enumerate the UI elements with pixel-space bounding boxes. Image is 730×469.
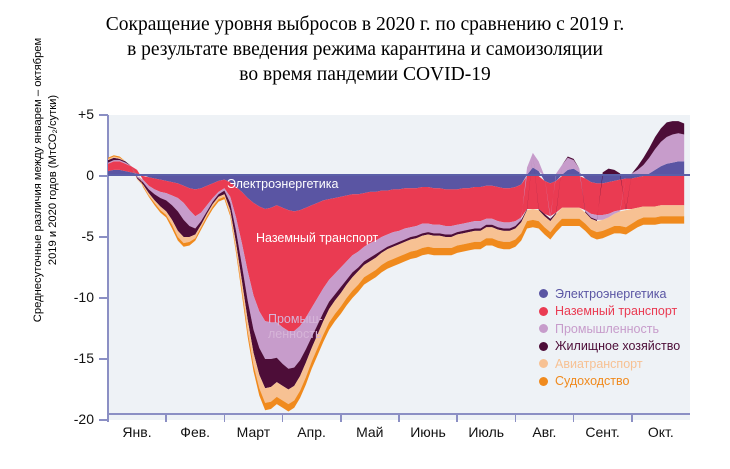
legend-color-swatch-icon [539,324,548,333]
x-tick-label: Фев. [180,424,210,440]
legend-item[interactable]: Электроэнергетика [539,285,680,303]
legend-color-swatch-icon [539,342,548,351]
legend-color-swatch-icon [539,377,548,386]
legend-item-label: Электроэнергетика [555,287,666,301]
x-tick-label: Окт. [648,424,674,440]
x-tick-label: Апр. [297,424,326,440]
y-tick-mark [99,114,108,116]
zero-reference-line [108,174,690,176]
legend-color-swatch-icon [539,289,548,298]
legend-item-label: Авиатранспорт [555,357,643,371]
legend-item[interactable]: Наземный транспорт [539,303,680,321]
legend-item[interactable]: Судоходство [539,373,680,391]
y-tick-mark [99,175,108,177]
x-tick-label: Июнь [410,424,446,440]
chart-page: Сокращение уровня выбросов в 2020 г. по … [0,0,730,469]
y-tick-label: -10 [50,289,94,305]
legend-item-label: Жилищное хозяйство [555,339,680,353]
y-tick-mark [99,358,108,360]
legend-item[interactable]: Жилищное хозяйство [539,338,680,356]
y-tick-mark [99,297,108,299]
x-tick-label: Июль [468,424,504,440]
y-tick-label: 0 [50,167,94,183]
page-title: Сокращение уровня выбросов в 2020 г. по … [0,12,730,87]
y-tick-label: -15 [50,350,94,366]
y-tick-label: -20 [50,411,94,427]
legend-color-swatch-icon [539,307,548,316]
x-tick-label: Сент. [585,424,619,440]
x-tick-label: Март [237,424,271,440]
chart-legend: ЭлектроэнергетикаНаземный транспортПромы… [539,285,680,390]
y-tick-label: +5 [50,106,94,122]
legend-item[interactable]: Промышленность [539,320,680,338]
legend-color-swatch-icon [539,359,548,368]
title-line-1: Сокращение уровня выбросов в 2020 г. по … [0,12,730,37]
legend-item-label: Промышленность [555,322,659,336]
title-line-2: в результате введения режима карантина и… [0,37,730,62]
y-tick-label: -5 [50,228,94,244]
x-tick-label: Авг. [532,424,556,440]
legend-item[interactable]: Авиатранспорт [539,355,680,373]
chart-container: Среднесуточные различия между январем – … [0,105,730,469]
x-tick-label: Май [356,424,383,440]
x-tick-label: Янв. [122,424,151,440]
legend-item-label: Судоходство [555,374,629,388]
title-line-3: во время пандемии COVID-19 [0,62,730,87]
y-tick-mark [99,236,108,238]
legend-item-label: Наземный транспорт [555,304,677,318]
